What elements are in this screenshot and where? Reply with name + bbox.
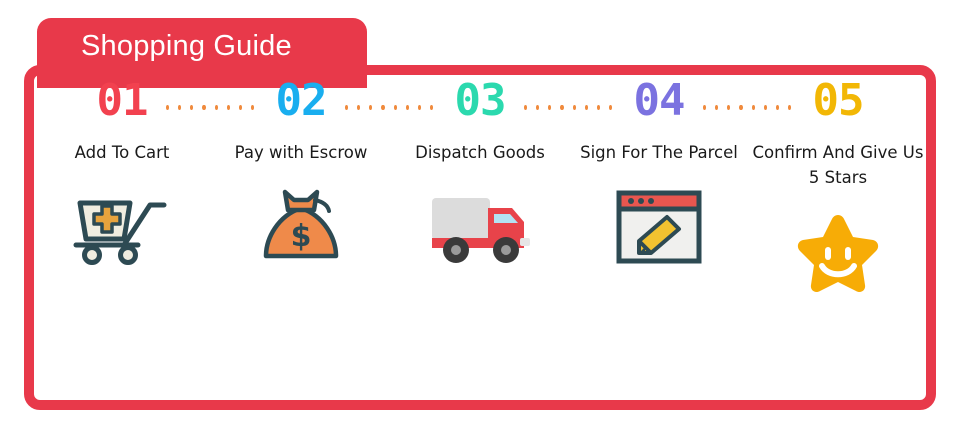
svg-text:$: $ [291, 219, 312, 254]
step-item-1: 01 Add To Cart [34, 75, 210, 270]
money-bag-icon: $ [249, 184, 353, 270]
step-item-2: 02 Pay with Escrow $ [213, 75, 389, 270]
step-number-3: 03 [455, 75, 506, 127]
sign-document-icon [607, 184, 711, 270]
step-item-3: 03 Dispatch Goods [392, 75, 568, 270]
step-number-2: 02 [276, 75, 327, 127]
steps-row: 01 Add To Cart 02 Pay [34, 75, 926, 335]
step-label-2: Pay with Escrow [235, 141, 368, 166]
step-number-5: 05 [813, 75, 864, 127]
step-number-4: 04 [634, 75, 685, 127]
smiling-star-icon [786, 209, 890, 295]
page-title: Shopping Guide [81, 32, 292, 61]
step-item-5: 05 Confirm And Give Us 5 Stars [750, 75, 926, 295]
shopping-cart-icon [70, 184, 174, 270]
header-tab: Shopping Guide [37, 18, 367, 74]
step-label-1: Add To Cart [75, 141, 170, 166]
step-label-3: Dispatch Goods [415, 141, 545, 166]
shopping-guide-infographic: Shopping Guide 01 Add To Cart [0, 0, 960, 432]
step-item-4: 04 Sign For The Parcel [571, 75, 747, 270]
step-number-1: 01 [97, 75, 148, 127]
delivery-truck-icon [428, 184, 532, 270]
step-label-4: Sign For The Parcel [580, 141, 738, 166]
step-label-5: Confirm And Give Us 5 Stars [750, 141, 926, 191]
